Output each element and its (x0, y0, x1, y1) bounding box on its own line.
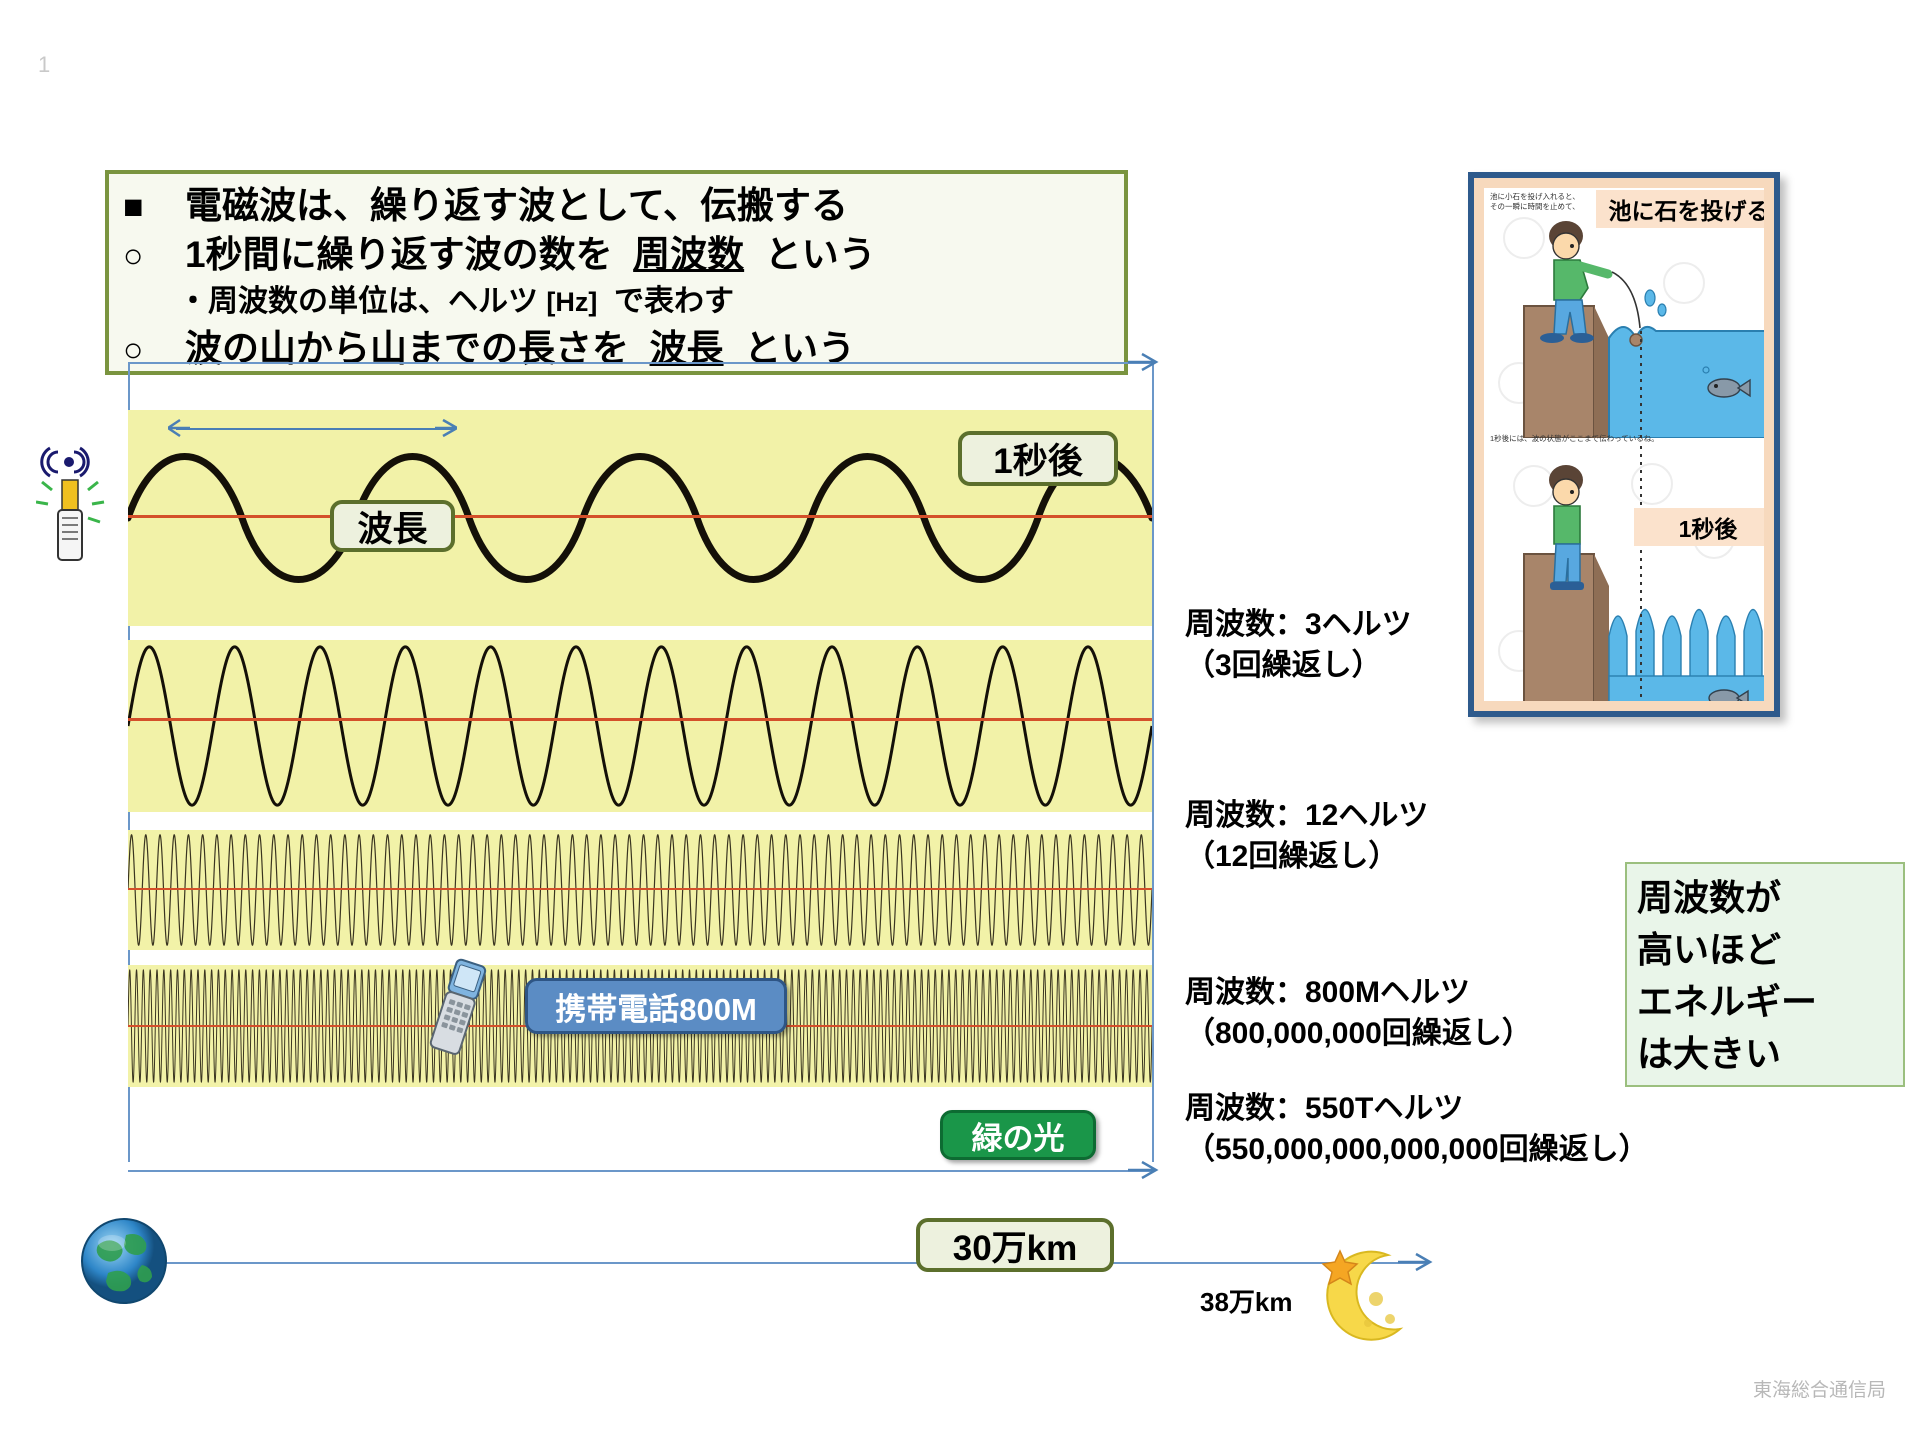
slide-number: 1 (38, 52, 50, 78)
frequency-legend-12hz: 周波数：12ヘルツ （12回繰返し） (1185, 795, 1428, 877)
wavelength-dimension-line (176, 428, 453, 430)
wavelength-callout: 波長 (330, 500, 455, 552)
definition-line-2-text-b: という (765, 230, 876, 280)
definition-line-4-text-b: という (744, 324, 855, 374)
pond-illustration-panel: 池に小石を投げ入れると、 その一瞬に時間を止めて、 池に石を投げる 1秒後には、… (1468, 172, 1780, 717)
wavelength-arrow-left-icon (168, 416, 192, 442)
frequency-legend-12hz-title: 周波数：12ヘルツ (1185, 795, 1428, 836)
wave-curve-12hz (128, 640, 1152, 812)
definition-box: ■ 電磁波は、繰り返す波として、伝搬する ○ 1秒間に繰り返す波の数を 周波数 … (105, 170, 1128, 375)
zero-line-800mhz (128, 888, 1152, 890)
wave-band-800mhz (128, 830, 1152, 950)
light-distance-callout: 30万km (916, 1218, 1114, 1272)
definition-line-3-text-b: で表わす (614, 280, 734, 324)
filled-square-bullet-icon: ■ (123, 190, 185, 224)
mobile-phone-icon (420, 955, 496, 1065)
light-distance-callout-label: 30万km (953, 1220, 1078, 1271)
footer-organization: 東海総合通信局 (1753, 1375, 1886, 1402)
moon-distance-label: 38万km (1200, 1282, 1293, 1319)
frequency-legend-12hz-detail: （12回繰返し） (1185, 836, 1428, 877)
wavelength-callout-label: 波長 (357, 501, 427, 552)
one-second-arrow-line (128, 362, 1152, 364)
frequency-legend-550thz: 周波数：550Tヘルツ （550,000,000,000,000回繰返し） (1185, 1088, 1649, 1170)
moon-distance-arrow-line (98, 1262, 1428, 1264)
phone-band-pill: 携帯電話800M (525, 978, 787, 1034)
frequency-legend-550thz-title: 周波数：550Tヘルツ (1185, 1088, 1649, 1129)
pond-caption-bottom-label: 1秒後 (1679, 510, 1738, 544)
frequency-legend-800mhz-title: 周波数：800Mヘルツ (1185, 972, 1532, 1013)
pond-tiny-caption-mid: 1秒後には、波の状態がここまで伝わっているね。 (1490, 434, 1659, 444)
keyword-wavelength: 波長 (650, 324, 724, 374)
green-light-pill-label: 緑の光 (972, 1113, 1065, 1158)
frequency-legend-800mhz: 周波数：800Mヘルツ （800,000,000回繰返し） (1185, 972, 1532, 1054)
energy-note-box: 周波数が 高いほど エネルギー は大きい (1625, 862, 1905, 1087)
light-distance-arrow-line (128, 1170, 1152, 1172)
keyword-frequency: 周波数 (633, 230, 744, 280)
definition-line-1: ■ 電磁波は、繰り返す波として、伝搬する (123, 182, 1124, 230)
circle-bullet-icon: ○ (123, 239, 185, 273)
light-distance-arrow-head-icon (1128, 1158, 1162, 1184)
wavelength-arrow-right-icon (433, 416, 457, 442)
frequency-legend-800mhz-detail: （800,000,000回繰返し） (1185, 1013, 1532, 1054)
one-second-arrow-head-icon (1128, 350, 1162, 376)
definition-line-4-text-a: 波の山から山までの長さを (185, 324, 629, 374)
zero-line-3hz (128, 515, 1152, 518)
energy-note-line-3: エネルギー (1637, 976, 1903, 1028)
definition-line-3-text-a: ・周波数の単位は、ヘルツ (178, 280, 538, 324)
definition-line-2-text-a: 1秒間に繰り返す波の数を (185, 230, 613, 280)
definition-line-2: ○ 1秒間に繰り返す波の数を 周波数 という (123, 230, 1124, 280)
chart-axis-right (1152, 362, 1154, 1162)
definition-line-3: ・周波数の単位は、ヘルツ [Hz] で表わす (123, 280, 1124, 324)
energy-note-line-2: 高いほど (1637, 924, 1903, 976)
wave-band-12hz (128, 640, 1152, 812)
moon-distance-label-text: 38万km (1200, 1287, 1293, 1317)
unit-hz: [Hz] (546, 280, 597, 324)
frequency-legend-550thz-detail: （550,000,000,000,000回繰返し） (1185, 1129, 1649, 1170)
zero-line-12hz (128, 718, 1152, 721)
phone-band-pill-label: 携帯電話800M (555, 984, 757, 1029)
pond-scene-bottom-icon (1484, 446, 1764, 701)
earth-globe-icon (78, 1215, 170, 1307)
one-second-callout-label: 1秒後 (993, 433, 1082, 484)
frequency-legend-3hz-detail: （3回繰返し） (1185, 645, 1412, 686)
definition-line-4: ○ 波の山から山までの長さを 波長 という (123, 324, 1124, 374)
frequency-legend-3hz: 周波数：3ヘルツ （3回繰返し） (1185, 604, 1412, 686)
frequency-legend-3hz-title: 周波数：3ヘルツ (1185, 604, 1412, 645)
wave-curve-800mhz (128, 830, 1152, 950)
pond-caption-top-label: 池に石を投げる (1609, 192, 1765, 226)
definition-line-1-text: 電磁波は、繰り返す波として、伝搬する (185, 182, 848, 230)
pond-tiny-caption-top: 池に小石を投げ入れると、 その一瞬に時間を止めて、 (1490, 192, 1580, 212)
antenna-icon (36, 430, 122, 570)
one-second-callout: 1秒後 (958, 431, 1118, 486)
energy-note-line-1: 周波数が (1637, 872, 1903, 924)
green-light-pill: 緑の光 (940, 1110, 1096, 1160)
pond-caption-top: 池に石を投げる (1596, 190, 1764, 228)
moon-icon (1310, 1245, 1418, 1347)
pond-caption-bottom: 1秒後 (1634, 508, 1764, 546)
energy-note-line-4: は大きい (1637, 1028, 1903, 1080)
